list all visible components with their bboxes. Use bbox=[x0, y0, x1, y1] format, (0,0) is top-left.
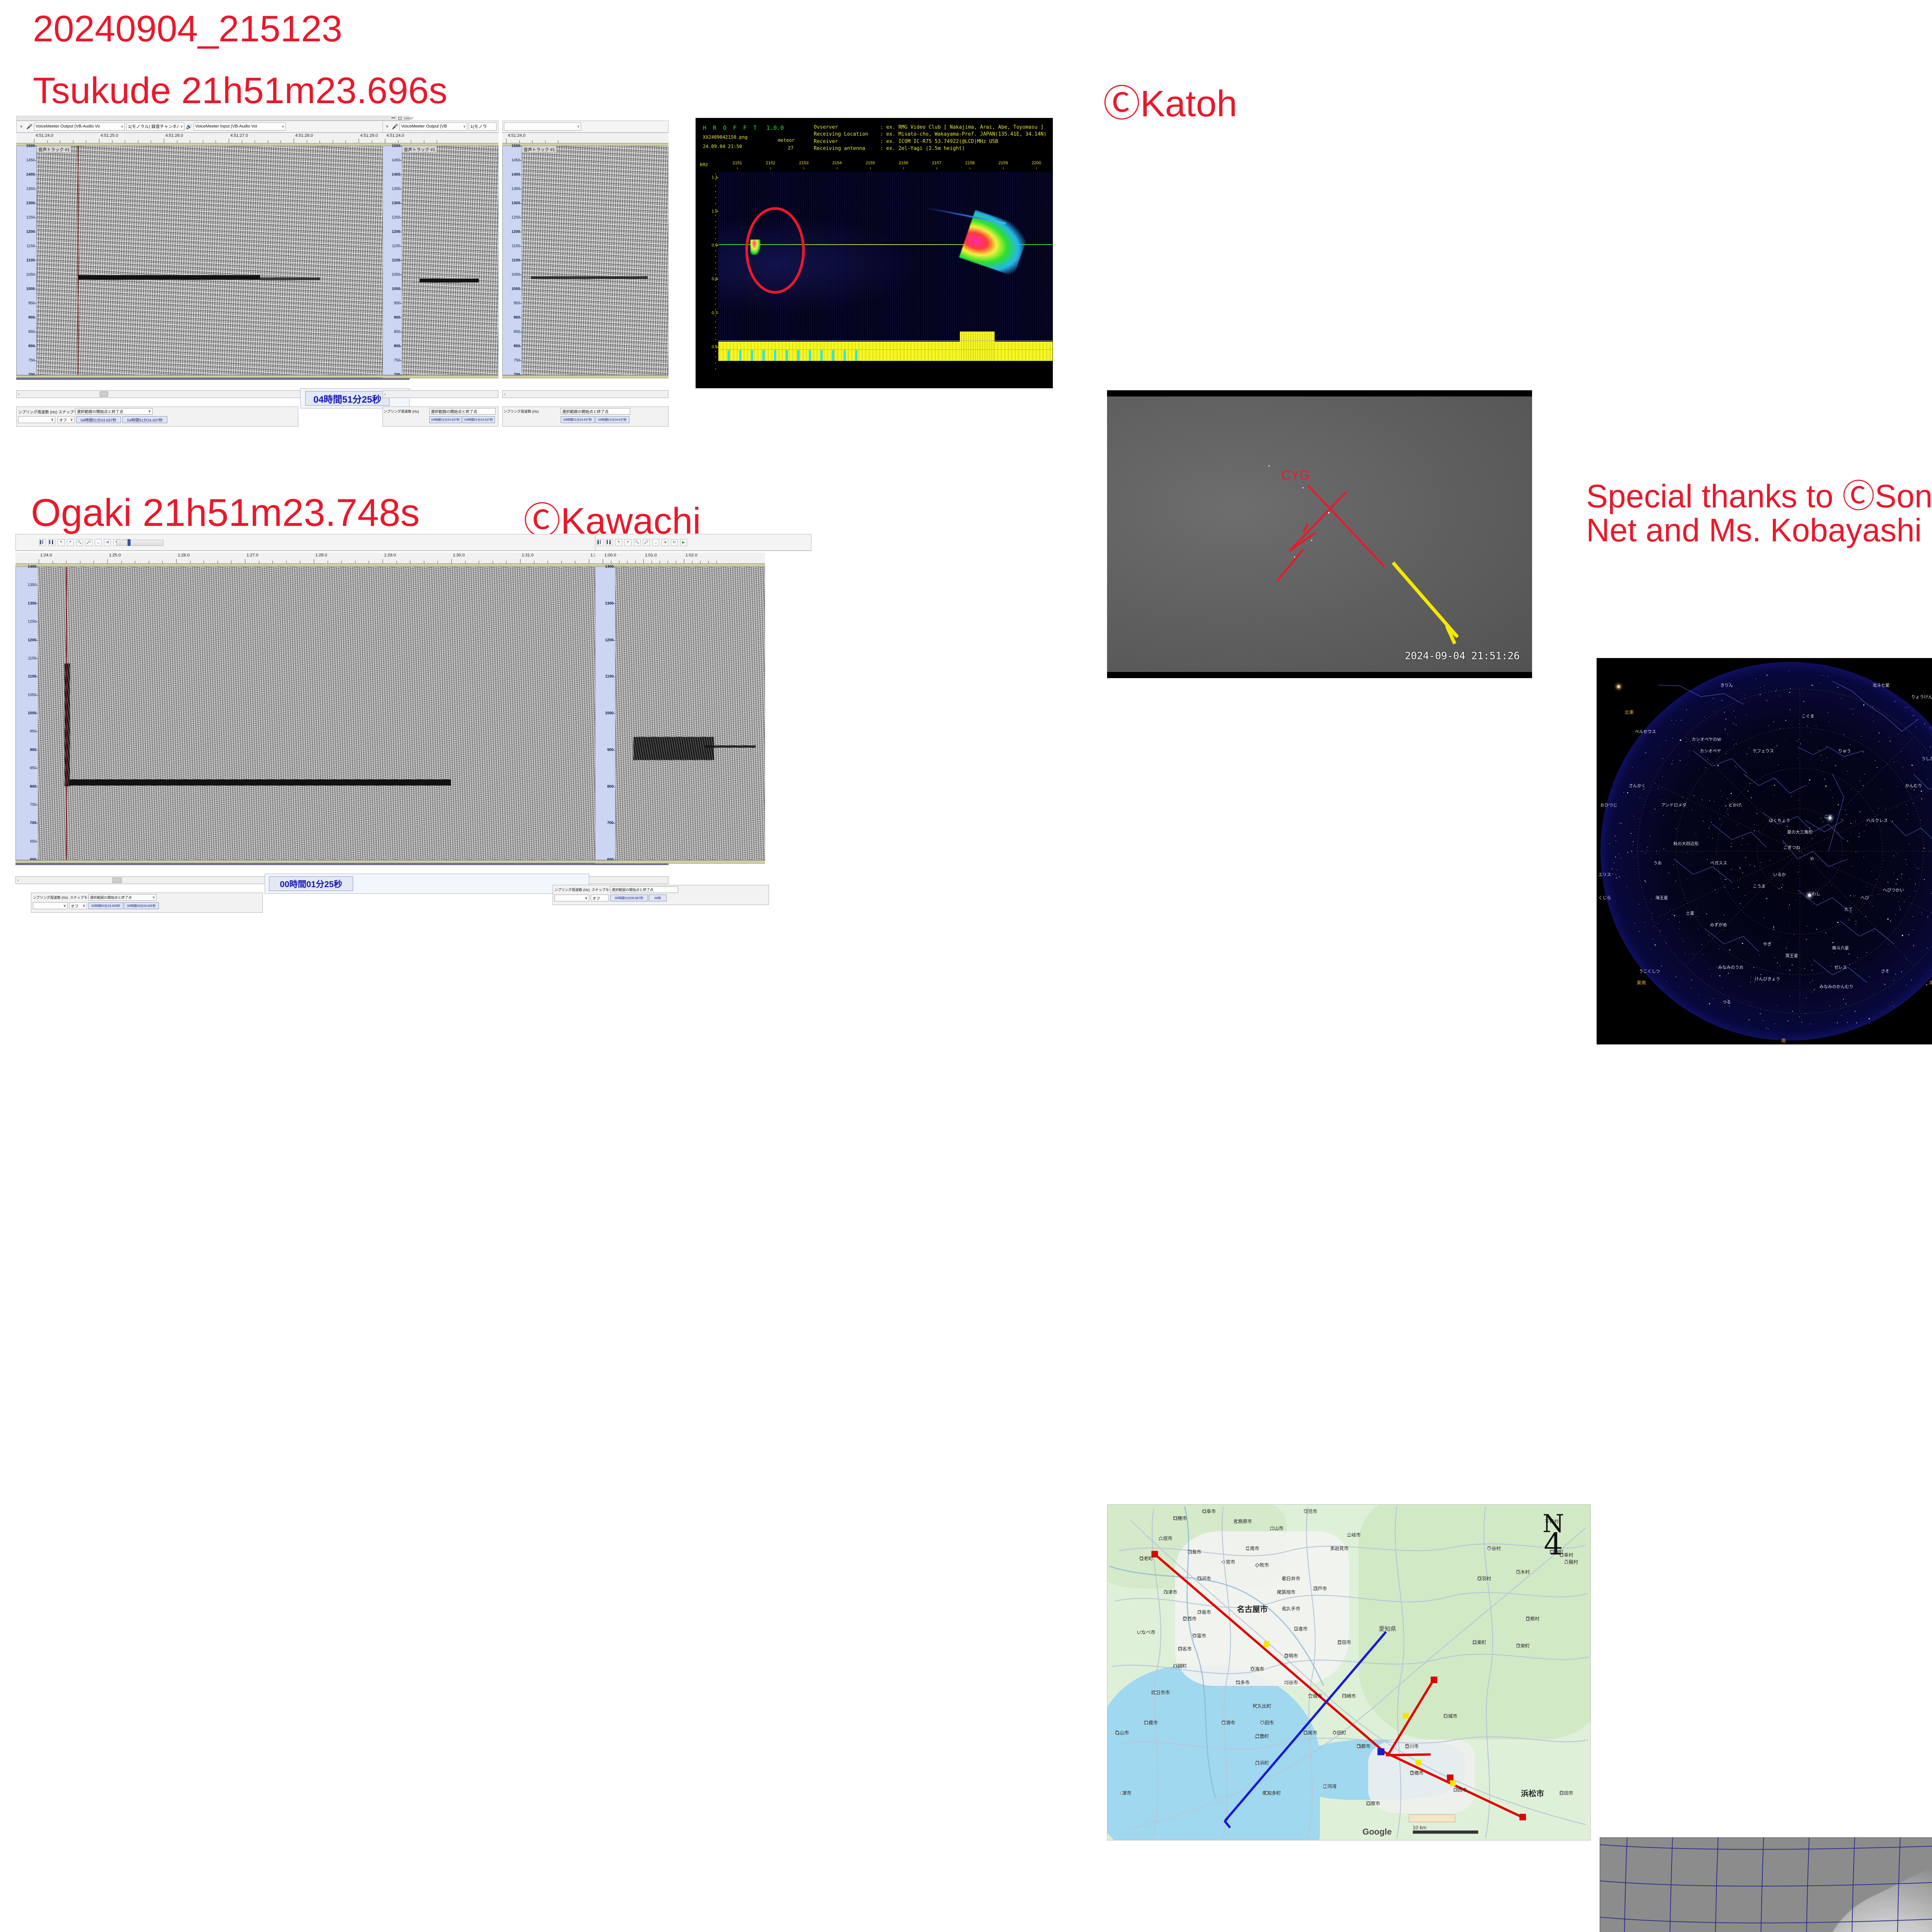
caption-ogaki: Ogaki 21h51m23.748s bbox=[31, 491, 420, 535]
record-channels-select-2[interactable]: 1(モノラ bbox=[469, 122, 497, 130]
output-device-select[interactable]: VoiceMeeter Input (VB-Audio Voi ∨ bbox=[194, 122, 286, 130]
frequency-tick bbox=[34, 361, 36, 361]
frequency-tick-label: 1450 bbox=[512, 158, 520, 163]
frequency-tick bbox=[400, 346, 402, 347]
ogaki2-selection-mode-select[interactable]: 選択範囲の開始点と終了点 bbox=[610, 886, 678, 893]
hrofft-x-tick bbox=[970, 167, 970, 169]
hrofft-x-tick-label: 2153 bbox=[799, 161, 808, 165]
constellation-label: こうま bbox=[1753, 883, 1765, 889]
constellation-label: 南斗六星 bbox=[1832, 945, 1849, 951]
constellation-label: ヘルクレス bbox=[1866, 817, 1888, 823]
ogaki-timeline-ruler[interactable]: 1:24.01:25.01:26.01:27.01:28.01:29.01:30… bbox=[15, 553, 668, 564]
playback-cursor[interactable] bbox=[78, 146, 78, 375]
frequency-tick-label: 800 bbox=[28, 344, 35, 349]
ruler-minor-tick bbox=[73, 140, 73, 143]
snap-mode-select[interactable]: オフ ∨ bbox=[58, 416, 75, 423]
hrofft-x-tick-label: 2151 bbox=[733, 161, 742, 165]
ogaki2-trim-icon[interactable]: ▌▎ bbox=[597, 539, 604, 546]
frequency-tick-label: 950 bbox=[514, 301, 520, 306]
ogaki2-snap-mode-select[interactable]: オフ bbox=[591, 895, 609, 901]
ruler-minor-tick bbox=[716, 561, 717, 563]
hrofft-x-tick bbox=[1003, 167, 1003, 169]
map-city-dot bbox=[1285, 1577, 1287, 1580]
frequency-scale-2: 1500145014001350130012501200115011001050… bbox=[383, 146, 402, 375]
slider-handle[interactable] bbox=[128, 539, 131, 546]
ogaki-samplerate-select[interactable]: ∨ bbox=[33, 902, 68, 909]
map-city-dot bbox=[1222, 1721, 1225, 1724]
hrofft-y-minor-dot bbox=[715, 298, 716, 298]
katoh-video-frame[interactable]: CYG 2024-09-04 21:51:26 bbox=[1107, 390, 1532, 678]
frequency-tick bbox=[520, 189, 522, 189]
frequency-tick bbox=[520, 232, 522, 232]
hrofft-field-value: : ex. ICOM IC-R75 53.74922(@LCD)MHz USB bbox=[880, 138, 998, 145]
ruler-major-tick bbox=[314, 559, 314, 563]
vertical-panel-divider bbox=[16, 378, 410, 380]
ogaki-audacity-window-2: ▌▎ ▍▌ ↰ ↱ 🔍 🔎 ↔ ⇉ ↻ ▶ 1:00.01:01.01:02.0… bbox=[595, 553, 1086, 900]
hrofft-spectrogram-window: H R O F F T 1.0.0 XX2409042150.png 24.09… bbox=[696, 118, 1053, 388]
audio-position-field[interactable]: 04時間51分25秒 bbox=[305, 391, 389, 406]
ogaki2-track-bottom-divider bbox=[595, 860, 765, 864]
scrollbar-thumb[interactable] bbox=[100, 391, 108, 397]
ruler-label: 4:51:24.0 bbox=[508, 133, 526, 138]
sonotaco-station-map[interactable]: IS3IS2HG3KNE 20240904_215122 spo (19.5, … bbox=[1600, 1837, 1932, 1932]
map-city-dot bbox=[1261, 1721, 1264, 1724]
ruler-label: 4:51:24.0 bbox=[36, 133, 53, 138]
selection-mode-value: 選択範囲の開始点と終了点 bbox=[77, 408, 123, 414]
selection-mode-value-3: 選択範囲の開始点と終了点 bbox=[562, 408, 609, 414]
samplerate-label-3: ンプリング周波数 (Hz) bbox=[503, 409, 539, 414]
map-city-label: 尾張旭市 bbox=[1277, 1588, 1295, 1595]
ruler-minor-tick bbox=[177, 140, 177, 143]
playback-speed-slider[interactable] bbox=[116, 540, 163, 546]
frequency-tick-label: 800 bbox=[394, 344, 400, 349]
google-watermark: Google bbox=[1362, 1827, 1392, 1837]
constellation-label: 北斗七星 bbox=[1872, 682, 1889, 688]
ruler-major-tick bbox=[603, 559, 603, 563]
hrofft-y-minor-dot bbox=[715, 292, 716, 293]
ruler-label: 4:51:28.0 bbox=[295, 133, 313, 138]
ogaki-spectrogram-canvas[interactable] bbox=[38, 567, 668, 860]
constellation-label: さそ bbox=[1881, 968, 1889, 974]
map-scale-text: 10 km bbox=[1413, 1825, 1478, 1830]
compass-direction-label: 東南 bbox=[1637, 980, 1646, 986]
frequency-tick bbox=[400, 260, 402, 261]
ruler-major-tick bbox=[229, 139, 229, 143]
hrofft-y-minor-dot bbox=[715, 245, 716, 245]
station-markers: IS3IS2HG3KNE bbox=[1600, 1838, 1932, 1932]
constellation-label: や bbox=[1810, 856, 1814, 862]
ruler-minor-tick bbox=[635, 561, 636, 563]
track-title-2: 音声トラック #1 bbox=[402, 146, 437, 153]
ruler-major-tick bbox=[506, 139, 507, 143]
ruler-minor-tick bbox=[424, 140, 424, 143]
ogaki2-meteor-echo bbox=[633, 737, 714, 760]
frequency-tick-label: 1300 bbox=[512, 201, 520, 206]
ogaki2-selection-toolbar: ンプリング周波数 (Hz) スナップモード 選択範囲の開始点と終了点 ∨ オフ … bbox=[553, 885, 769, 905]
frequency-tick bbox=[613, 713, 615, 714]
ogaki-spectrogram-track[interactable]: 1400135013001250120011501100105010009509… bbox=[15, 566, 668, 860]
chevron-down-icon: ∨ bbox=[70, 418, 73, 422]
ogaki2-selection-end-time[interactable]: 00時 bbox=[649, 895, 667, 901]
ogaki-selection-toolbar: ンプリング周波数 (Hz) スナップモード 選択範囲の開始点と終了点 ∨ ∨ オ… bbox=[31, 893, 263, 913]
frequency-tick bbox=[34, 318, 36, 318]
ruler-minor-tick bbox=[465, 561, 466, 563]
selection-end-time[interactable]: 04時間51分24.637秒 bbox=[122, 416, 167, 423]
frequency-tick bbox=[520, 175, 522, 175]
ogaki-scroll-left-icon[interactable]: ‹ bbox=[16, 878, 20, 883]
record-channels-value: 1(モノラル) 録音チャンネル bbox=[128, 123, 179, 129]
samplerate-select[interactable]: ∨ bbox=[18, 416, 55, 423]
map-city-dot bbox=[1145, 1721, 1148, 1724]
frequency-tick-label: 850 bbox=[28, 330, 35, 334]
constellation-label: こと bbox=[1824, 813, 1833, 820]
frequency-tick-label: 1100 bbox=[28, 675, 36, 679]
ogaki2-samplerate-select[interactable]: ∨ bbox=[554, 895, 589, 901]
ogaki2-spectrogram-canvas[interactable] bbox=[616, 567, 765, 860]
ogaki-selection-start-time[interactable]: 00時間00分24.605秒 bbox=[88, 902, 123, 909]
toolbar-3-combo[interactable]: ∨ bbox=[504, 122, 581, 130]
map-city-dot bbox=[1280, 1591, 1283, 1594]
frequency-tick-label: 1050 bbox=[392, 273, 400, 277]
ruler-minor-tick bbox=[162, 561, 163, 563]
frequency-tick-label: 750 bbox=[30, 803, 36, 807]
map-city-dot bbox=[1246, 1547, 1249, 1550]
hrofft-y-minor-dot bbox=[715, 233, 716, 233]
zoom-in-icon[interactable]: 🔍 bbox=[76, 539, 83, 546]
ogaki-selection-mode-value: 選択範囲の開始点と終了点 bbox=[90, 895, 132, 900]
frequency-tick bbox=[36, 677, 38, 677]
device-toolbar: ∨ 🎤 VoiceMeeter Output (VB-Audio Vo ∨ 1(… bbox=[16, 121, 410, 133]
hrofft-x-tick-label: 2152 bbox=[766, 161, 775, 165]
selection-start-value-3: 04時間51分24.637秒 bbox=[563, 418, 592, 422]
hrofft-y-minor-dot bbox=[715, 310, 716, 310]
frequency-tick-label: 950 bbox=[28, 301, 35, 306]
spectrogram-canvas[interactable]: 音声トラック #1 bbox=[37, 146, 409, 375]
selection-end-time-3[interactable]: 04時間51分24.637秒 bbox=[595, 416, 629, 423]
selection-toolbar: ンプリング周波数 (Hz) スナップモード 選択範囲の開始点と終了点 ∨ ∨ オ… bbox=[16, 406, 298, 427]
silence-audio-icon[interactable]: ▍▌ bbox=[48, 539, 55, 546]
frequency-tick-label: 1500 bbox=[26, 144, 35, 148]
map-legend-box bbox=[1409, 1815, 1455, 1822]
frequency-tick bbox=[34, 332, 36, 332]
chevron-down-icon: ∨ bbox=[51, 418, 54, 422]
frequency-tick bbox=[520, 218, 522, 218]
ogaki2-zoom-out-icon[interactable]: 🔎 bbox=[643, 539, 650, 546]
frequency-tick-label: 1450 bbox=[392, 158, 400, 163]
ruler-label: 1:25.0 bbox=[109, 553, 121, 558]
frequency-scale-3: 1500145014001350130012501200115011001050… bbox=[503, 146, 522, 375]
hrofft-y-minor-dot bbox=[715, 209, 716, 210]
horizontal-scrollbar-2[interactable]: ‹ bbox=[383, 390, 498, 398]
ruler-minor-tick bbox=[369, 561, 369, 563]
constellation-label: かんむり bbox=[1905, 782, 1922, 789]
redo-icon[interactable]: ↱ bbox=[67, 539, 74, 546]
map-city-dot bbox=[1256, 1735, 1259, 1738]
hrofft-field-row: Ovserver: ex. RMG Video Club [ Nakajima,… bbox=[814, 124, 1051, 131]
selection-end-value: 04時間51分24.637秒 bbox=[127, 417, 163, 423]
constellation-label: へび bbox=[1861, 895, 1869, 901]
ruler-minor-tick bbox=[268, 140, 268, 143]
ruler-minor-tick bbox=[424, 561, 424, 563]
input-device-value-2: VoiceMeeter Output (VB bbox=[401, 124, 447, 129]
frequency-tick-label: 1100 bbox=[26, 259, 35, 263]
chevron-down-icon: ∨ bbox=[180, 124, 183, 129]
host-chevron-down-icon[interactable]: ∨ bbox=[18, 124, 25, 129]
spectrogram-canvas-2[interactable]: 音声トラック #1 bbox=[402, 146, 498, 375]
ogaki2-zoom-in-icon[interactable]: 🔍 bbox=[634, 539, 641, 546]
ogaki-playback-cursor[interactable] bbox=[66, 567, 67, 860]
hrofft-y-minor-dot bbox=[715, 345, 716, 346]
selection-end-time-2[interactable]: 04時間51分24.637秒 bbox=[463, 416, 495, 423]
map-city-dot bbox=[1473, 1641, 1476, 1644]
ruler-minor-tick bbox=[627, 561, 628, 563]
input-device-value: VoiceMeeter Output (VB-Audio Vo bbox=[36, 124, 100, 129]
map-city-dot bbox=[1565, 1561, 1568, 1563]
ogaki2-play-icon[interactable]: ▶ bbox=[680, 539, 687, 546]
constellation-label: たて bbox=[1844, 906, 1853, 912]
frequency-tick bbox=[400, 203, 402, 204]
timeline-ruler[interactable]: 4:51:24.04:51:25.04:51:26.04:51:27.04:51… bbox=[16, 133, 410, 143]
ruler-minor-tick bbox=[47, 140, 48, 143]
hrofft-meteor-trail bbox=[926, 207, 1006, 224]
map-city-dot bbox=[1236, 1681, 1239, 1684]
map-city-labels: 岐阜市可児市瑞穂市各務原市犬山市土岐市大垣市下條村多治見市羽島市江南市養老町一宮… bbox=[1107, 1505, 1590, 1840]
frequency-tick bbox=[613, 604, 615, 604]
map-city-dot bbox=[1222, 1561, 1225, 1563]
map-city-dot bbox=[1184, 1617, 1186, 1620]
frequency-tick-label: 1350 bbox=[512, 187, 520, 191]
frequency-tick-label: 1000 bbox=[392, 287, 400, 291]
selection-toolbar-2: ンプリング周波数 (Hz) 選択範囲の開始点と終了点 04時間51分24.637… bbox=[383, 406, 498, 427]
track-title-3: 音声トラック #1 bbox=[522, 146, 556, 153]
frequency-tick-label: 1100 bbox=[392, 259, 400, 263]
constellation-label: とかげ bbox=[1728, 802, 1741, 808]
ruler-minor-tick bbox=[149, 561, 149, 563]
host-chevron-down-icon-2[interactable]: ∨ bbox=[384, 124, 390, 129]
scroll-left-icon-3[interactable]: ‹ bbox=[503, 392, 507, 396]
frequency-tick-label: 900 bbox=[607, 748, 614, 752]
input-device-select-2[interactable]: VoiceMeeter Output (VB ∨ bbox=[400, 122, 467, 130]
hrofft-x-tick-label: 2155 bbox=[866, 161, 875, 165]
ruler-minor-tick bbox=[281, 140, 281, 143]
ruler-label: 4:51:24.0 bbox=[386, 133, 404, 138]
meteor-trajectory-road-map[interactable]: 岐阜市可児市瑞穂市各務原市犬山市土岐市大垣市下條村多治見市羽島市江南市養老町一宮… bbox=[1107, 1504, 1591, 1840]
selection-mode-select[interactable]: 選択範囲の開始点と終了点 ∨ bbox=[75, 408, 153, 415]
ogaki2-redo-icon[interactable]: ↱ bbox=[624, 539, 631, 546]
selection-start-time[interactable]: 04時間51分24.637秒 bbox=[76, 416, 121, 423]
record-channels-value-2: 1(モノラ bbox=[470, 123, 487, 129]
frequency-tick bbox=[36, 622, 38, 622]
frequency-tick bbox=[34, 189, 36, 189]
ruler-minor-tick bbox=[519, 140, 520, 143]
frequency-tick bbox=[400, 361, 402, 361]
chevron-down-icon: ∨ bbox=[121, 124, 124, 129]
scroll-left-icon-2[interactable]: ‹ bbox=[383, 392, 387, 396]
trim-audio-icon[interactable]: ▌▎ bbox=[39, 539, 46, 546]
constellation-label: うしかい bbox=[1922, 755, 1932, 762]
selection-start-time-2[interactable]: 04時間51分24.637秒 bbox=[429, 416, 462, 423]
hrofft-mode-label: meteor bbox=[778, 138, 794, 143]
hrofft-y-minor-dot bbox=[715, 333, 716, 334]
ruler-minor-tick bbox=[138, 140, 138, 143]
hrofft-field-value: : ex. Misato-cho, Wakayama-Pref. JAPAN(1… bbox=[880, 131, 1046, 138]
ogaki2-fit-selection-icon[interactable]: ↔ bbox=[652, 539, 659, 546]
ogaki2-spectrogram-track[interactable]: 14001300120011001000900800700600 bbox=[595, 566, 765, 860]
track-bottom-divider-3 bbox=[502, 375, 668, 378]
record-channels-select[interactable]: 1(モノラル) 録音チャンネル ∨ bbox=[126, 122, 184, 130]
constellation-label: エリス bbox=[1599, 871, 1611, 878]
frequency-tick bbox=[400, 189, 402, 189]
hrofft-x-tick bbox=[770, 167, 771, 169]
hrofft-x-axis: 2151215221532154215521562157215821592200 bbox=[719, 161, 1051, 170]
constellation-label: 冥王星 bbox=[1785, 952, 1798, 959]
hrofft-amplitude-cyan-markers bbox=[718, 350, 857, 361]
ogaki-selection-end-time[interactable]: 00時間00分24.605秒 bbox=[124, 902, 159, 909]
horizontal-scrollbar-3[interactable]: ‹ bbox=[502, 390, 668, 398]
zoom-out-icon[interactable]: 🔎 bbox=[85, 539, 92, 546]
hrofft-y-minor-dot bbox=[715, 304, 716, 304]
frequency-tick bbox=[613, 640, 615, 641]
compass-direction-label: 北東 bbox=[1624, 709, 1634, 716]
ruler-minor-tick bbox=[341, 561, 342, 563]
ogaki2-zoom-toggle-icon[interactable]: ↻ bbox=[671, 539, 678, 546]
timeline-ruler-3[interactable]: 4:51:24.0 bbox=[502, 133, 668, 143]
thanks-line-1: Special thanks to ⒸSonotaCo bbox=[1586, 479, 1932, 513]
frequency-tick bbox=[36, 585, 38, 585]
frequency-tick-label: 1500 bbox=[392, 144, 400, 148]
cygnus-cross-overlay bbox=[1107, 396, 1532, 672]
ogaki2-silence-icon[interactable]: ▍▌ bbox=[606, 539, 613, 546]
ruler-minor-tick bbox=[190, 561, 190, 563]
constellation-label: ペルセウス bbox=[1635, 728, 1656, 735]
frequency-tick-label: 700 bbox=[607, 821, 614, 825]
fit-selection-icon[interactable]: ↔ bbox=[95, 539, 102, 546]
frequency-tick-label: 900 bbox=[394, 316, 400, 320]
undo-icon[interactable]: ↰ bbox=[58, 539, 65, 546]
hrofft-field-key: Ovserver bbox=[814, 124, 880, 131]
ruler-label: 1:30.0 bbox=[453, 553, 465, 558]
map-city-dot bbox=[1517, 1645, 1519, 1647]
frequency-tick-label: 1400 bbox=[392, 173, 400, 177]
hrofft-y-minor-dot bbox=[715, 321, 716, 322]
selection-mode-select-2[interactable]: 選択範囲の開始点と終了点 bbox=[429, 408, 496, 415]
frequency-tick-label: 1200 bbox=[392, 230, 400, 234]
ruler-minor-tick bbox=[651, 561, 652, 563]
ogaki2-undo-icon[interactable]: ↰ bbox=[615, 539, 622, 546]
constellation-label: 秋の大四辺形 bbox=[1673, 840, 1699, 847]
map-city-dot bbox=[1406, 1745, 1408, 1748]
ogaki2-fit-project-icon[interactable]: ⇉ bbox=[662, 539, 668, 546]
ruler-minor-tick bbox=[94, 561, 94, 563]
map-city-dot bbox=[1367, 1802, 1370, 1805]
ruler-minor-tick bbox=[216, 140, 216, 143]
frequency-tick bbox=[520, 318, 522, 318]
frequency-tick-label: 1150 bbox=[28, 656, 36, 660]
ruler-minor-tick bbox=[242, 140, 242, 143]
ruler-major-tick bbox=[107, 559, 108, 563]
map-city-dot bbox=[1251, 1668, 1254, 1670]
ogaki2-selection-start-time[interactable]: 00時間01分00.857秒 bbox=[610, 895, 648, 901]
north-compass-icon: N 4 bbox=[1543, 1512, 1564, 1560]
hrofft-y-minor-dot bbox=[715, 315, 716, 316]
spectrogram-track[interactable]: 1500145014001350130012501200115011001050… bbox=[16, 146, 410, 375]
selection-start-time-3[interactable]: 04時間51分24.637秒 bbox=[561, 416, 595, 423]
frequency-tick bbox=[520, 361, 522, 361]
ruler-minor-tick bbox=[372, 140, 372, 143]
all-sky-star-chart[interactable]: きりん北斗七星りょうけんこぐまペルセウスカシオペヤのWケフェウスりゅうカシオペヤ… bbox=[1597, 658, 1932, 1044]
hrofft-y-minor-dot bbox=[715, 238, 716, 239]
frequency-tick-label: 1300 bbox=[28, 601, 36, 605]
frequency-tick-label: 750 bbox=[514, 359, 520, 363]
frequency-tick bbox=[36, 768, 38, 769]
ruler-label: 1:01.0 bbox=[645, 553, 657, 558]
spectrogram-track-3[interactable]: 1500145014001350130012501200115011001050… bbox=[502, 146, 668, 375]
ogaki-selection-mode-select[interactable]: 選択範囲の開始点と終了点 ∨ bbox=[88, 894, 156, 901]
map-city-dot bbox=[1285, 1681, 1287, 1684]
ogaki-meteor-head-echo bbox=[65, 663, 70, 786]
hrofft-mode-count: 27 bbox=[788, 145, 793, 151]
ogaki-scrollbar-thumb[interactable] bbox=[112, 878, 122, 883]
hrofft-y-minor-dot bbox=[715, 286, 716, 287]
frequency-tick-label: 1400 bbox=[26, 173, 35, 177]
map-city-label: 津市 bbox=[1122, 1790, 1131, 1796]
chevron-down-icon: ∨ bbox=[148, 409, 151, 413]
spectrogram-track-2[interactable]: 1500145014001350130012501200115011001050… bbox=[383, 146, 498, 375]
chevron-down-icon: ∨ bbox=[463, 124, 466, 129]
ruler-major-tick bbox=[643, 559, 644, 563]
selection-end-value-3: 04時間51分24.637秒 bbox=[598, 418, 627, 422]
ogaki-edit-toolbar: ▌▎ ▍▌ ↰ ↱ 🔍 🔎 ↔ ⇉ ↻ ▶ bbox=[15, 534, 668, 551]
output-device-value: VoiceMeeter Input (VB-Audio Voi bbox=[195, 124, 257, 129]
ogaki-audio-position-field[interactable]: 00時間01分25秒 bbox=[269, 876, 353, 891]
frequency-tick bbox=[400, 232, 402, 232]
frequency-tick-label: 1200 bbox=[605, 638, 614, 642]
frequency-tick bbox=[520, 203, 522, 204]
map-city-dot bbox=[1338, 1641, 1341, 1644]
ogaki-audio-position-toolbar: 00時間01分25秒 bbox=[265, 874, 589, 894]
scroll-left-icon[interactable]: ‹ bbox=[17, 392, 21, 396]
ruler-minor-tick bbox=[506, 561, 507, 563]
ogaki2-timeline-ruler[interactable]: 1:00.01:01.01:02.0 bbox=[595, 553, 765, 564]
ruler-minor-tick bbox=[558, 140, 558, 143]
constellation-label: ケフェウス bbox=[1753, 748, 1774, 754]
ruler-major-tick bbox=[39, 559, 39, 563]
frequency-scale: 1500145014001350130012501200115011001050… bbox=[17, 146, 37, 375]
map-city-dot bbox=[1140, 1631, 1143, 1634]
ogaki2-selection-start-value: 00時間01分00.857秒 bbox=[615, 896, 643, 900]
frequency-tick bbox=[400, 160, 402, 161]
map-scale-bar: 10 km bbox=[1413, 1825, 1478, 1834]
spectrogram-canvas-3[interactable]: 音声トラック #1 bbox=[522, 146, 668, 375]
input-device-select[interactable]: VoiceMeeter Output (VB-Audio Vo ∨ bbox=[34, 122, 125, 130]
ruler-label: 4:51:25.0 bbox=[100, 133, 118, 138]
hrofft-y-minor-dot bbox=[715, 185, 716, 186]
ruler-minor-tick bbox=[660, 561, 660, 563]
ruler-minor-tick bbox=[548, 561, 548, 563]
map-city-dot bbox=[1164, 1591, 1167, 1594]
hrofft-y-minor-dot bbox=[715, 197, 716, 198]
map-city-dot bbox=[1256, 1705, 1259, 1708]
hrofft-y-minor-dot bbox=[715, 262, 716, 263]
ruler-major-tick bbox=[99, 139, 99, 143]
ruler-minor-tick bbox=[86, 140, 86, 143]
fit-project-icon[interactable]: ⇉ bbox=[104, 539, 111, 546]
selection-mode-select-3[interactable]: 選択範囲の開始点と終了点 bbox=[561, 408, 630, 415]
timeline-ruler-2[interactable]: 4:51:24.0 bbox=[383, 133, 498, 143]
ruler-major-tick bbox=[451, 559, 452, 563]
ogaki-snap-mode-select[interactable]: オフ∨ bbox=[69, 902, 87, 909]
map-city-dot bbox=[1159, 1537, 1162, 1540]
